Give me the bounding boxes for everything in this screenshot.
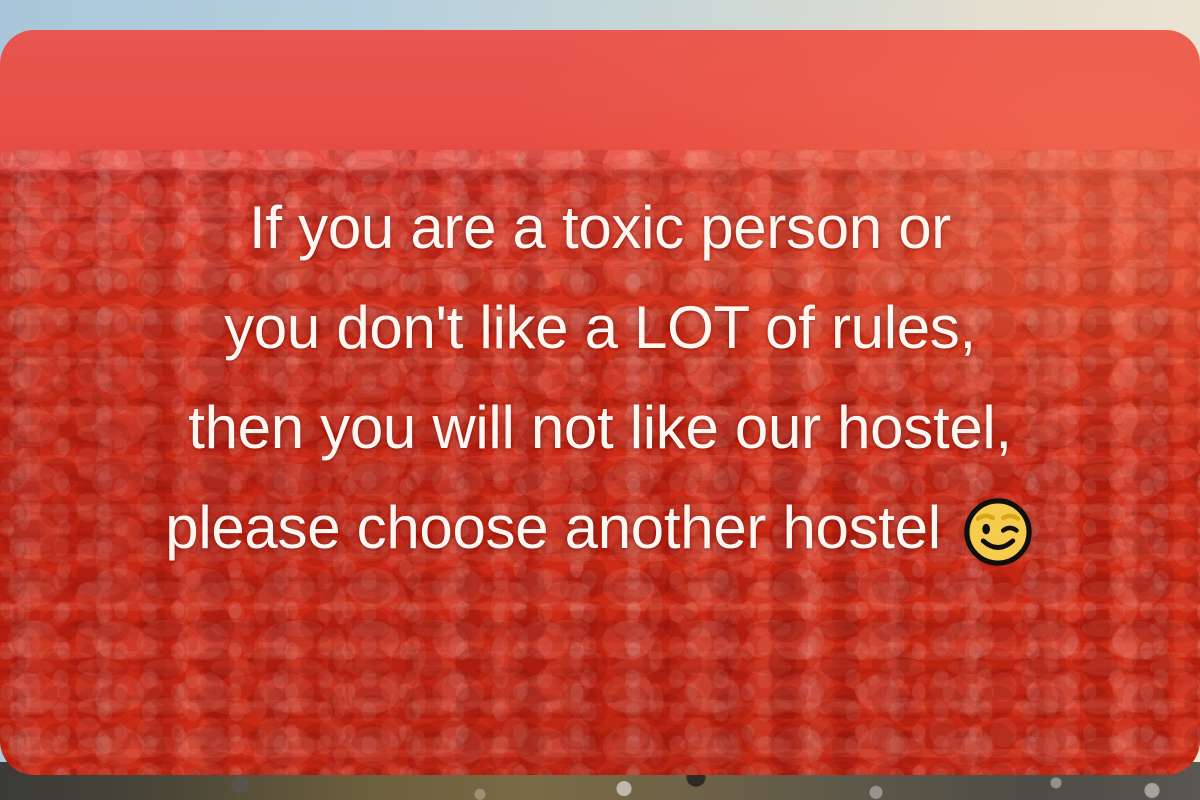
quote-line-3: then you will not like our hostel, xyxy=(14,378,1186,478)
screenshot-root: If you are a toxic person or you don't l… xyxy=(0,0,1200,800)
winking-face-icon xyxy=(961,495,1035,569)
quote-line-2: you don't like a LOT of rules, xyxy=(14,278,1186,378)
quote-line-4: please choose another hostel xyxy=(165,478,941,578)
quote-line-1: If you are a toxic person or xyxy=(14,178,1186,278)
quote-line-4-row: please choose another hostel xyxy=(14,478,1186,578)
quote-text-block: If you are a toxic person or you don't l… xyxy=(0,178,1200,578)
